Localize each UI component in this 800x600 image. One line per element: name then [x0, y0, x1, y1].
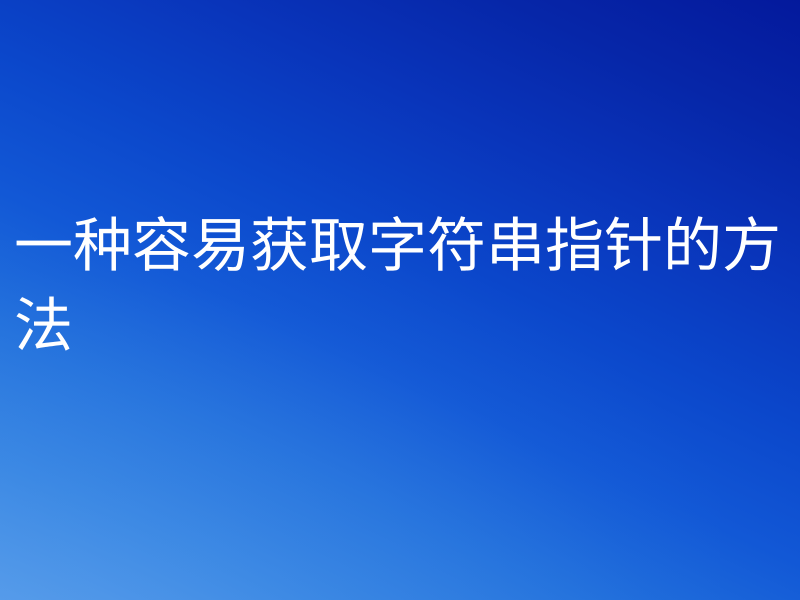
page-title: 一种容易获取字符串指针的方法	[14, 206, 800, 366]
headline-block: 一种容易获取字符串指针的方法	[14, 206, 800, 366]
title-card-canvas: 一种容易获取字符串指针的方法	[0, 0, 800, 600]
